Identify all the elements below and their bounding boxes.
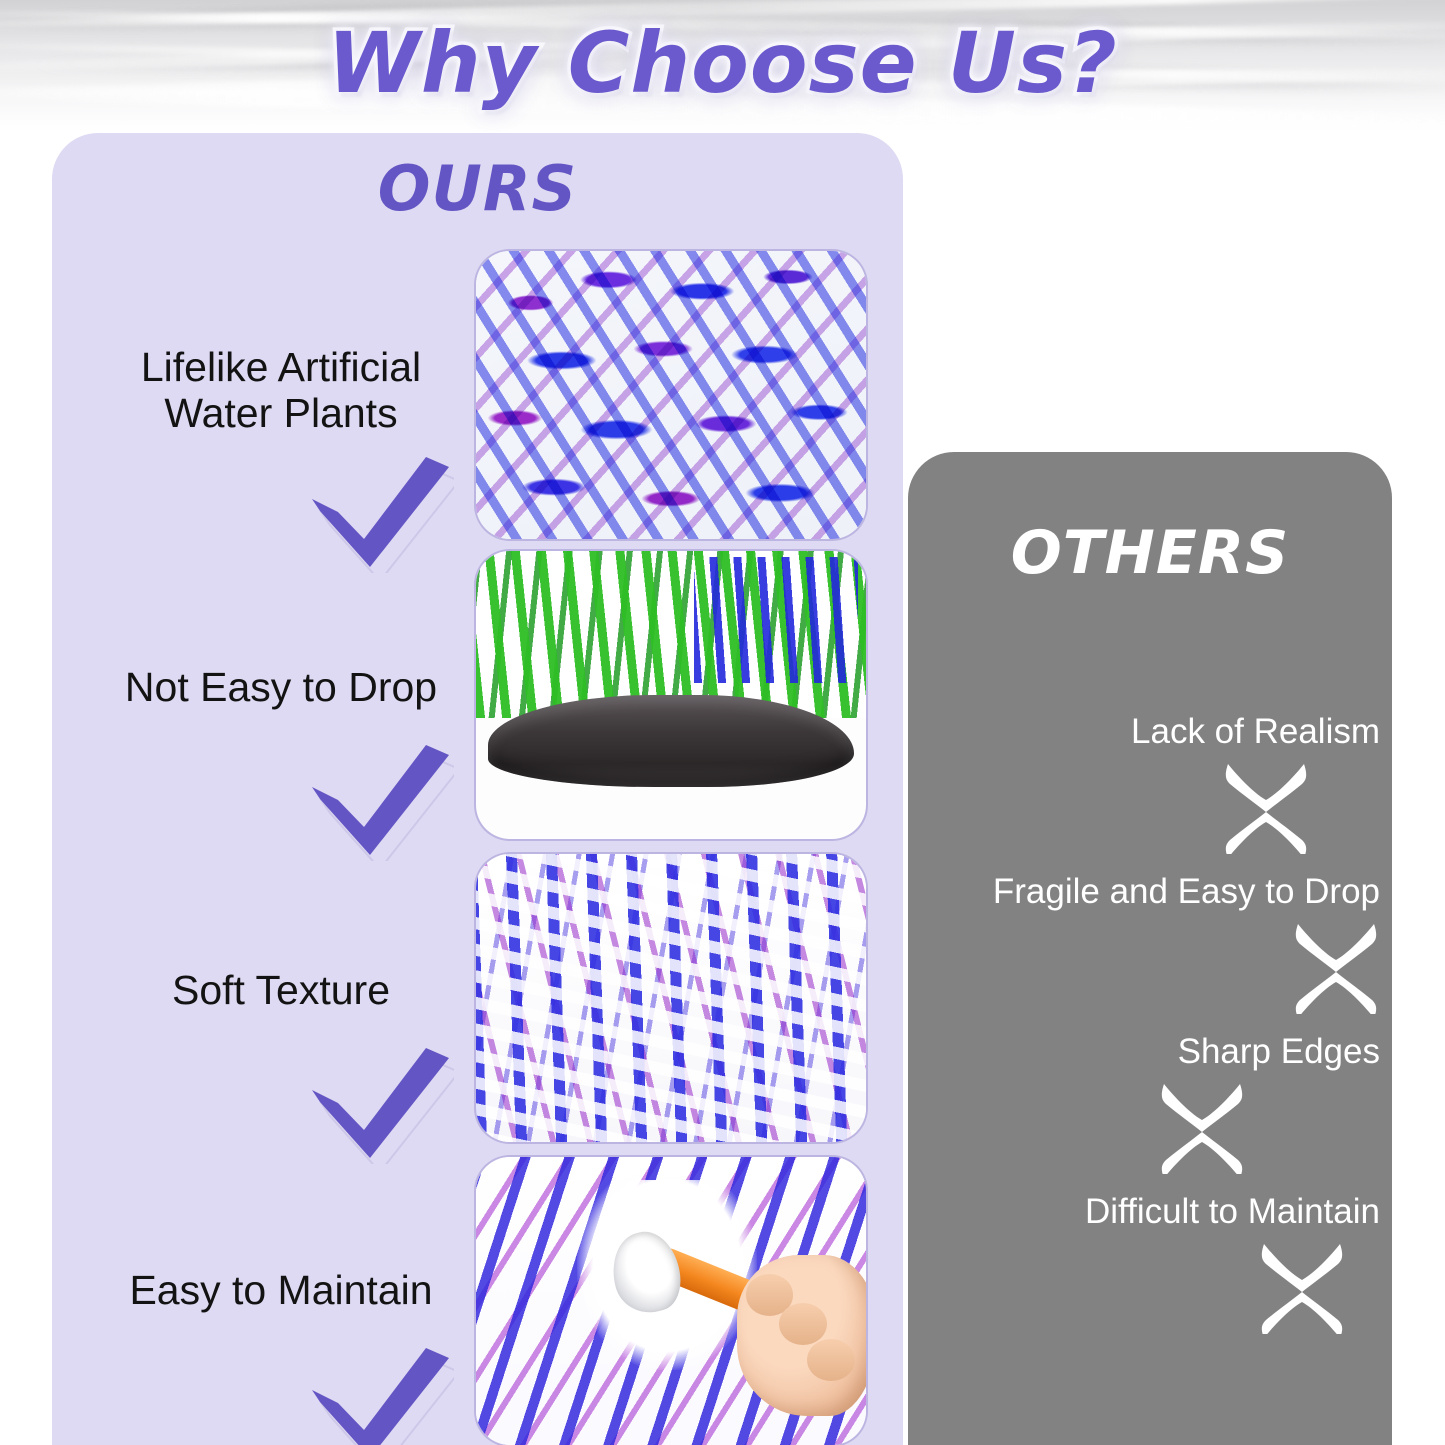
check-mark-icon — [304, 1346, 454, 1445]
cross-mark-icon — [1254, 1238, 1350, 1334]
ours-photo-soft-texture-plants — [476, 854, 866, 1142]
others-heading: OTHERS — [908, 518, 1392, 588]
cross-mark-icon — [1154, 1078, 1250, 1174]
ours-photo-easy-maintain-brush — [476, 1157, 866, 1445]
check-mark-icon — [304, 743, 454, 861]
check-mark-icon — [304, 455, 454, 573]
cross-mark-icon — [1288, 918, 1384, 1014]
ours-row-label: Soft Texture — [66, 968, 496, 1014]
infographic-canvas: Why Choose Us? OURS OTHERS Lifelike Arti… — [0, 0, 1445, 1445]
check-mark-icon — [304, 1046, 454, 1164]
ours-photo-lifelike-plants — [476, 251, 866, 539]
others-row-label: Sharp Edges — [1178, 1032, 1380, 1072]
ours-heading: OURS — [52, 152, 903, 225]
cross-mark-icon — [1218, 758, 1314, 854]
ours-row-label: Easy to Maintain — [66, 1268, 496, 1314]
others-row-label: Lack of Realism — [1131, 712, 1380, 752]
ours-photo-driftwood-plants — [476, 551, 866, 839]
others-row-label: Difficult to Maintain — [1085, 1192, 1380, 1232]
ours-row-label: Not Easy to Drop — [66, 665, 496, 711]
ours-row-label: Lifelike Artificial Water Plants — [66, 345, 496, 437]
others-row-label: Fragile and Easy to Drop — [993, 872, 1380, 912]
page-title: Why Choose Us? — [0, 14, 1445, 112]
